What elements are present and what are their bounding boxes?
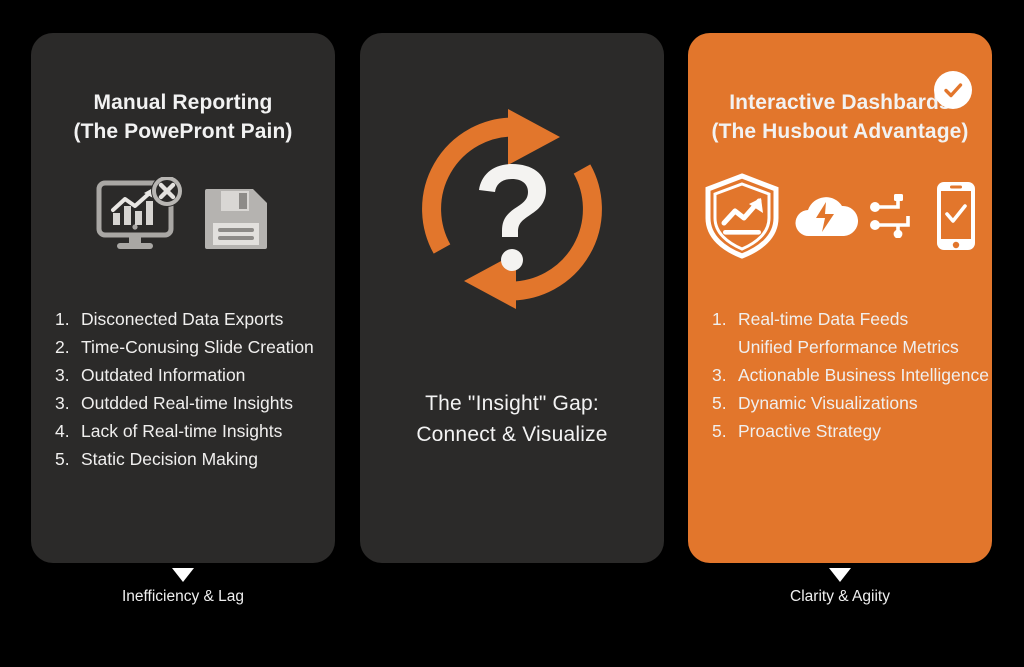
cloud-sync-icon xyxy=(792,190,858,247)
down-triangle-icon xyxy=(829,568,851,582)
shield-chart-icon xyxy=(702,173,782,264)
center-card-caption: The "Insight" Gap: Connect & Visualize xyxy=(416,388,607,450)
footer-right-label: Clarity & Agiity xyxy=(688,588,992,606)
list-item-number: 1. xyxy=(55,306,81,333)
list-item-number: 2. xyxy=(55,334,81,361)
left-card-title-line1: Manual Reporting xyxy=(94,91,273,114)
list-item: 5. Proactive Strategy xyxy=(712,418,982,445)
card-insight-gap: The "Insight" Gap: Connect & Visualize xyxy=(360,33,664,563)
comparison-board: Manual Reporting (The PowePront Pain) xyxy=(0,0,1024,667)
footer-inefficiency: Inefficiency & Lag xyxy=(31,568,335,606)
network-nodes-icon xyxy=(868,194,924,243)
list-item-label: Unified Performance Metrics xyxy=(738,334,959,361)
list-item: 3. Outdated Information xyxy=(55,362,325,389)
footer-left-label: Inefficiency & Lag xyxy=(31,588,335,606)
list-item-label: Real-time Data Feeds xyxy=(738,306,908,333)
footer-clarity: Clarity & Agiity xyxy=(688,568,992,606)
list-item-label: Time-Conusing Slide Creation xyxy=(81,334,314,361)
list-item-number: 3. xyxy=(55,362,81,389)
list-item-label: Outdated Information xyxy=(81,362,245,389)
floppy-disk-icon xyxy=(201,183,271,258)
list-item: Unified Performance Metrics xyxy=(712,334,982,361)
list-item: 4. Lack of Real-time Insights xyxy=(55,418,325,445)
list-item: 1. Real-time Data Feeds xyxy=(712,306,982,333)
card-manual-reporting: Manual Reporting (The PowePront Pain) xyxy=(31,33,335,563)
circular-arrows-question-icon xyxy=(412,109,612,314)
list-item-label: Disconected Data Exports xyxy=(81,306,283,333)
list-item-number: 3. xyxy=(55,390,81,417)
list-item-label: Static Decision Making xyxy=(81,446,258,473)
list-item: 1. Disconected Data Exports xyxy=(55,306,325,333)
left-card-icons xyxy=(31,170,335,270)
list-item-label: Dynamic Visualizations xyxy=(738,390,918,417)
list-item: 2. Time-Conusing Slide Creation xyxy=(55,334,325,361)
list-item-label: Actionable Business Intelligence xyxy=(738,362,989,389)
mobile-check-icon xyxy=(934,179,978,258)
down-triangle-icon xyxy=(172,568,194,582)
check-circle-icon xyxy=(934,71,972,109)
list-item-number: 5. xyxy=(712,418,738,445)
list-item-number: 5. xyxy=(55,446,81,473)
card-interactive-dashboards: Interactive Dashbards (The Husbout Advan… xyxy=(688,33,992,563)
right-card-list: 1. Real-time Data Feeds Unified Performa… xyxy=(688,306,992,445)
list-item: 5. Dynamic Visualizations xyxy=(712,390,982,417)
center-caption-line2: Connect & Visualize xyxy=(416,419,607,450)
list-item-number: 1. xyxy=(712,306,738,333)
list-item-number: 5. xyxy=(712,390,738,417)
center-caption-line1: The "Insight" Gap: xyxy=(425,392,599,415)
monitor-chart-error-icon xyxy=(95,177,187,264)
list-item: 3. Actionable Business Intelligence xyxy=(712,362,982,389)
list-item-label: Proactive Strategy xyxy=(738,418,881,445)
list-item-number: 4. xyxy=(55,418,81,445)
left-card-title: Manual Reporting (The PowePront Pain) xyxy=(31,33,335,146)
list-item: 5. Static Decision Making xyxy=(55,446,325,473)
list-item-number xyxy=(712,334,738,361)
left-card-list: 1. Disconected Data Exports 2. Time-Conu… xyxy=(31,306,335,473)
right-card-title-line1: Interactive Dashbards xyxy=(729,91,951,114)
list-item-number: 3. xyxy=(712,362,738,389)
left-card-title-line2: (The PowePront Pain) xyxy=(45,117,321,146)
right-card-title-line2: (The Husbout Advantage) xyxy=(702,117,978,146)
list-item-label: Lack of Real-time Insights xyxy=(81,418,282,445)
right-card-icons xyxy=(688,168,992,268)
list-item: 3. Outdded Real-time Insights xyxy=(55,390,325,417)
list-item-label: Outdded Real-time Insights xyxy=(81,390,293,417)
